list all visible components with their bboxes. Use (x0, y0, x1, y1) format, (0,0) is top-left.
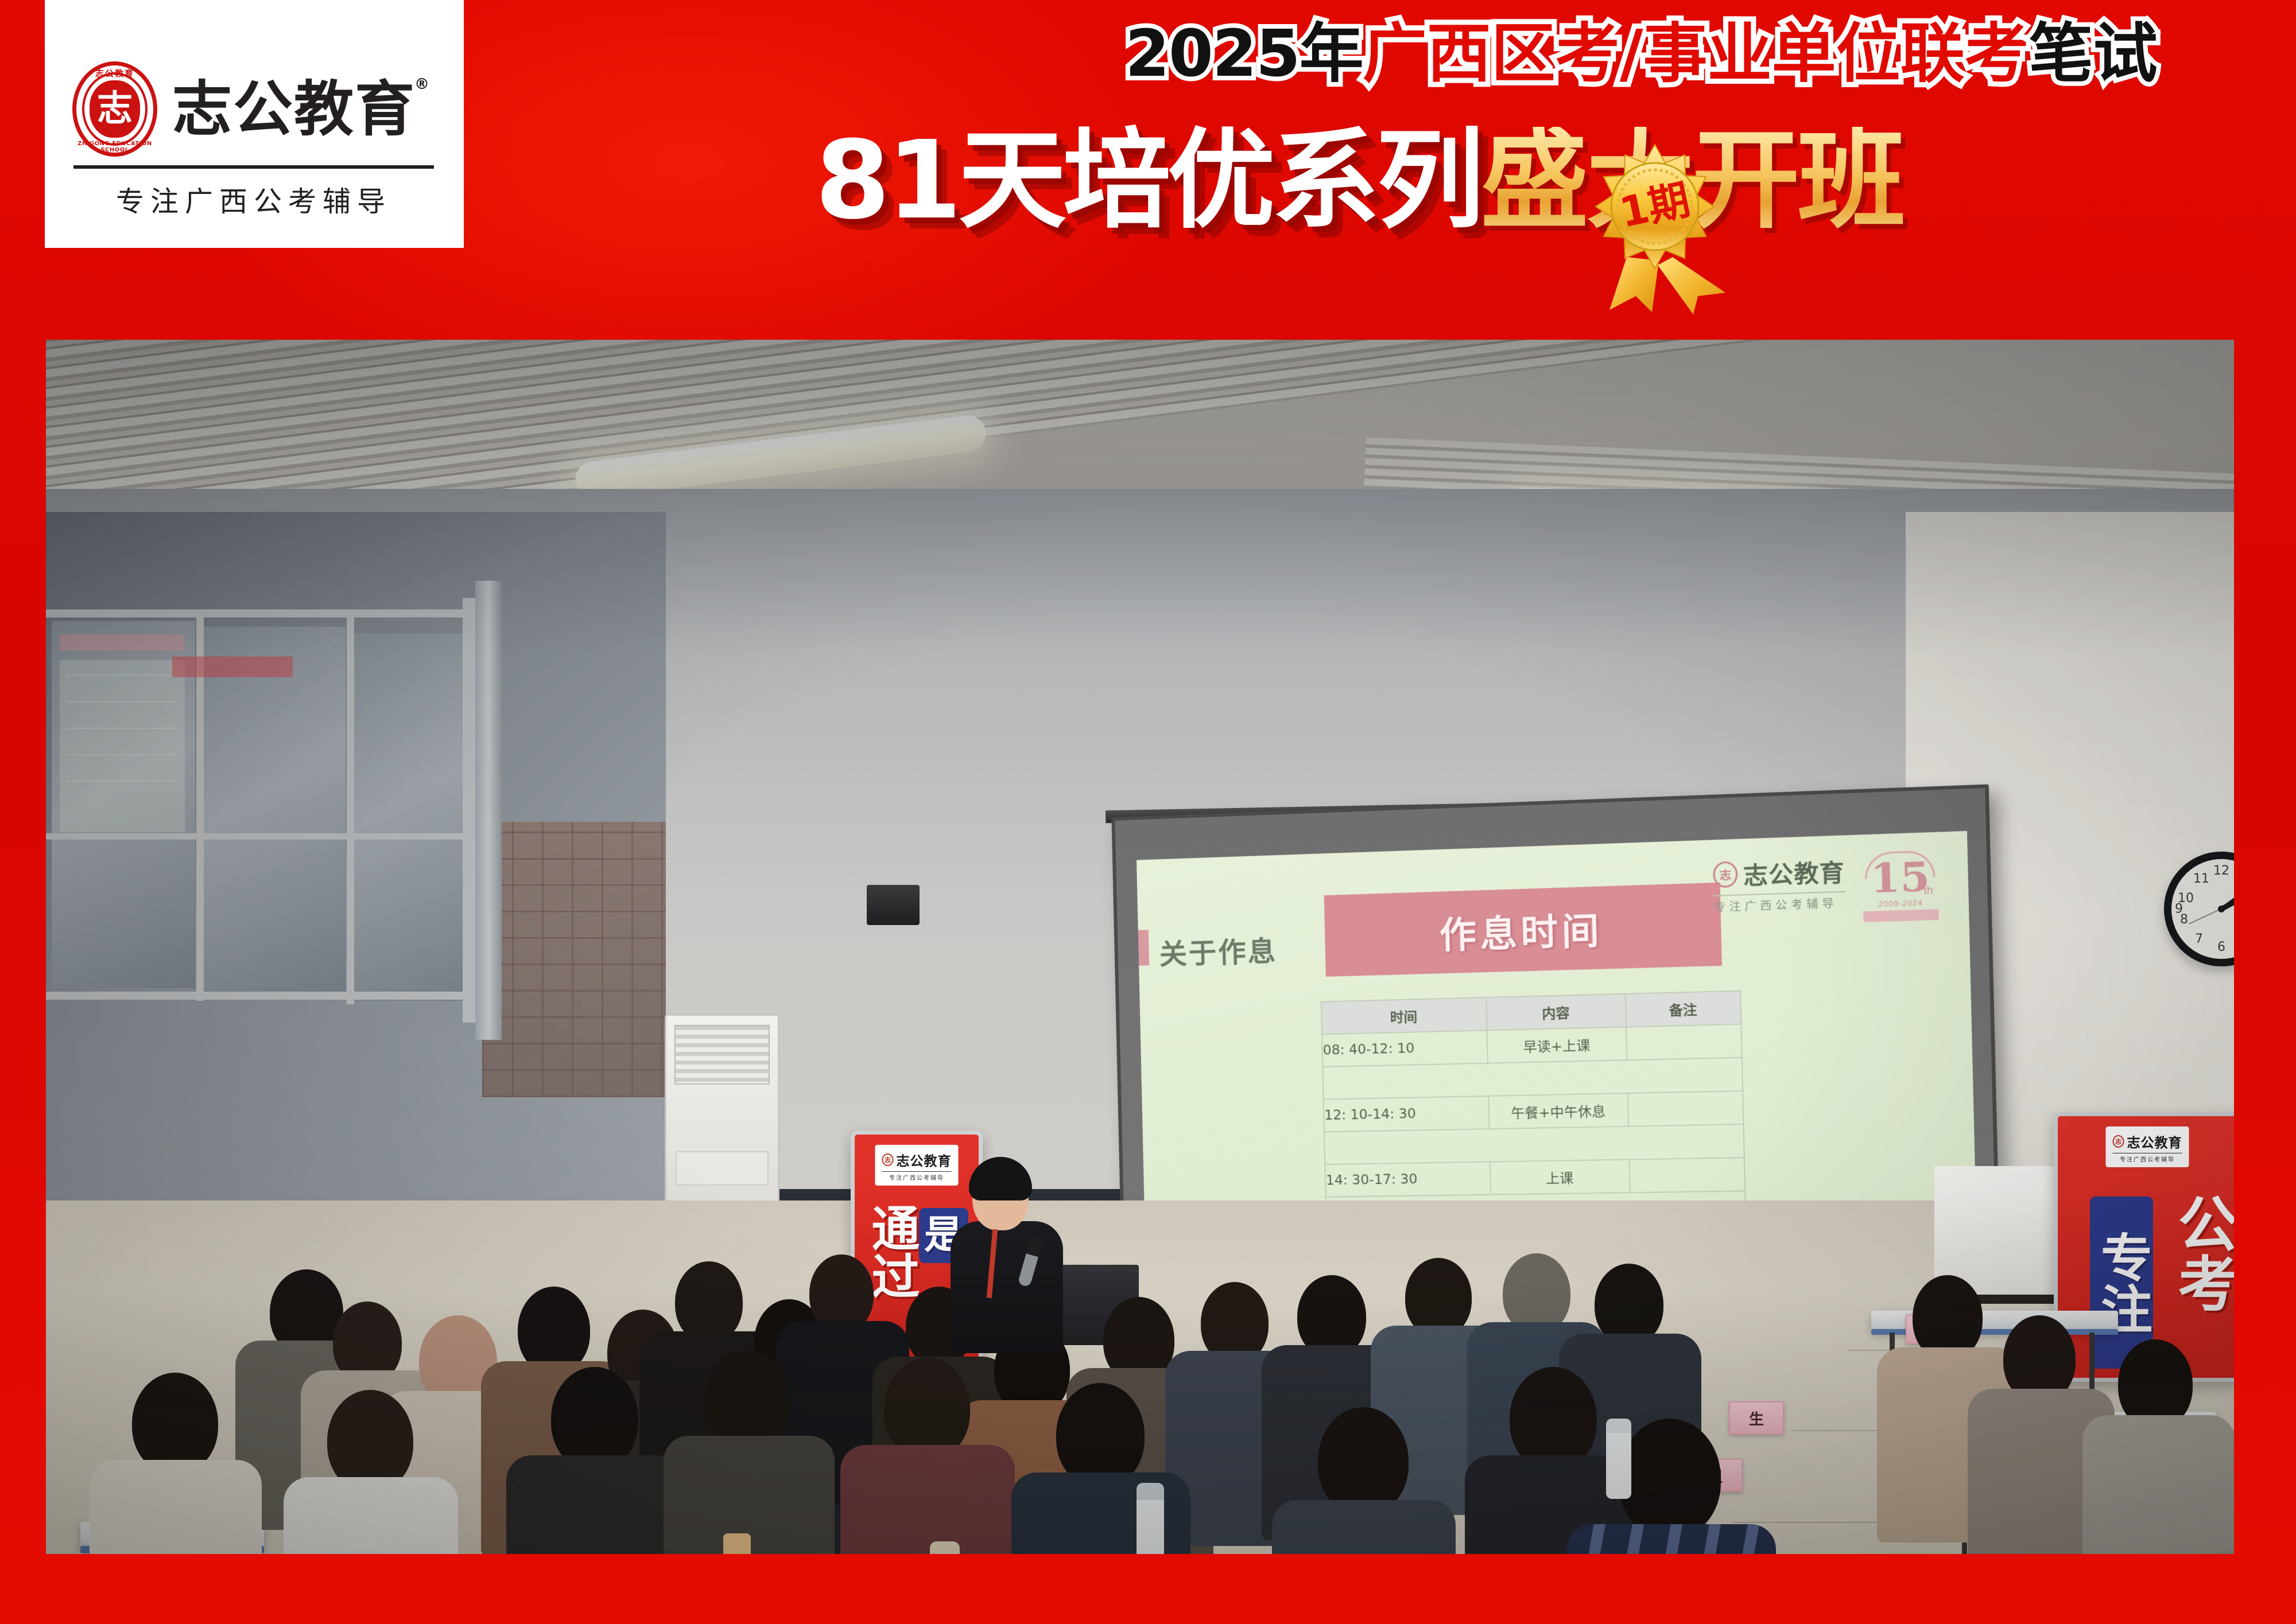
headline-exam-name: 广西区考/事业单位联考 (1363, 22, 2029, 86)
slide-accent-tab (1138, 930, 1149, 966)
banner-right-logo-name: 志公教育 (2127, 1132, 2182, 1151)
banner-left-seal-icon: 志 (882, 1153, 894, 1166)
teacher-presenter (946, 1161, 1066, 1351)
air-conditioner (665, 1014, 779, 1203)
cell-time: 08: 40-12: 10 (1322, 1030, 1488, 1067)
seal-arc-top-text: 志公教育 (72, 67, 157, 79)
poster-background: 志公教育 志 ZHIGONG EDUCATION SCHOOL 志公教育 ® 专… (0, 0, 2296, 1624)
banner-right-logo: 志 志公教育 专注广西公考辅导 (2106, 1126, 2189, 1167)
table-row: 14: 30-17: 30 上课 (1325, 1157, 1745, 1197)
col-header-content: 内容 (1486, 994, 1626, 1031)
brand-logo-card: 志公教育 志 ZHIGONG EDUCATION SCHOOL 志公教育 ® 专… (45, 0, 464, 248)
brand-wordmark-text: 志公教育 (172, 74, 416, 144)
headline-course-name: 81天培优系列 (815, 127, 1481, 235)
cell-note (1627, 1091, 1743, 1126)
cell-content: 上课 (1490, 1160, 1630, 1195)
cup-icon (723, 1533, 751, 1554)
headline-line-2: 81天培优系列 盛大开班 (815, 115, 1903, 247)
brand-seal-icon: 志公教育 志 ZHIGONG EDUCATION SCHOOL (72, 61, 157, 157)
water-bottle-icon (1137, 1483, 1164, 1554)
seal-glyph: 志 (72, 91, 157, 126)
headline-year: 2025年 (1125, 22, 1363, 86)
brand-logo-row: 志公教育 志 ZHIGONG EDUCATION SCHOOL 志公教育 ® (72, 63, 440, 155)
water-bottle-icon (1606, 1419, 1631, 1499)
gold-medal-badge-icon: 1期 (1572, 142, 1738, 314)
brand-tagline: 专注广西公考辅导 (73, 179, 434, 220)
slide-brand-name: 志公教育 (1743, 853, 1845, 891)
headline-exam-tail: 笔试 (2029, 22, 2158, 86)
registered-mark-icon: ® (414, 77, 430, 92)
col-header-time: 时间 (1321, 997, 1487, 1034)
slide-brand-tagline: 专注广西公考辅导 (1713, 895, 1845, 915)
banner-left-logo-name: 志公教育 (897, 1150, 952, 1170)
anniversary-years: 2009-2024 (1860, 898, 1941, 909)
classroom-photo: 12 1 2 3 4 5 6 7 8 9 10 11 关于作息 作息时间 (46, 340, 2234, 1554)
brand-wordmark: 志公教育 ® (172, 79, 416, 139)
window-wall (46, 512, 666, 1269)
cell-time: 12: 10-14: 30 (1324, 1096, 1490, 1132)
cell-content: 早读+上课 (1487, 1027, 1627, 1063)
banner-left-logo-tagline: 专注广西公考辅导 (882, 1173, 952, 1182)
slide-title-band: 作息时间 (1324, 883, 1722, 977)
cell-note (1626, 1024, 1742, 1060)
slide-title: 作息时间 (1439, 901, 1603, 959)
slide-kicker-label: 关于作息 (1159, 928, 1278, 972)
cell-note (1629, 1157, 1745, 1192)
logo-divider (73, 165, 434, 169)
headline-line-1: 2025年 广西区考/事业单位联考 笔试 (1125, 22, 2158, 91)
anniversary-suffix: th (1923, 884, 1933, 897)
wall-speaker-icon (867, 885, 920, 925)
col-header-note: 备注 (1625, 991, 1741, 1027)
slide-brand-logo: 志 志公教育 专注广西公考辅导 (1713, 853, 1846, 915)
cell-content: 午餐+中午休息 (1488, 1093, 1628, 1129)
brick-wall-outside (482, 822, 666, 1097)
seal-arc-bottom-text: ZHIGONG EDUCATION SCHOOL (72, 141, 157, 153)
slide-brand-seal-icon: 志 (1713, 861, 1738, 888)
desk-name-card: 生 (1729, 1401, 1784, 1435)
cell-time: 14: 30-17: 30 (1325, 1161, 1491, 1196)
banner-right-logo-tagline: 专注广西公考辅导 (2113, 1155, 2182, 1163)
banner-right-headline: 公考 (2168, 1193, 2231, 1312)
water-bottle-icon (930, 1541, 960, 1554)
banner-right-seal-icon: 志 (2113, 1135, 2124, 1148)
anniversary-badge-icon: 15 th 2009-2024 (1859, 848, 1941, 924)
